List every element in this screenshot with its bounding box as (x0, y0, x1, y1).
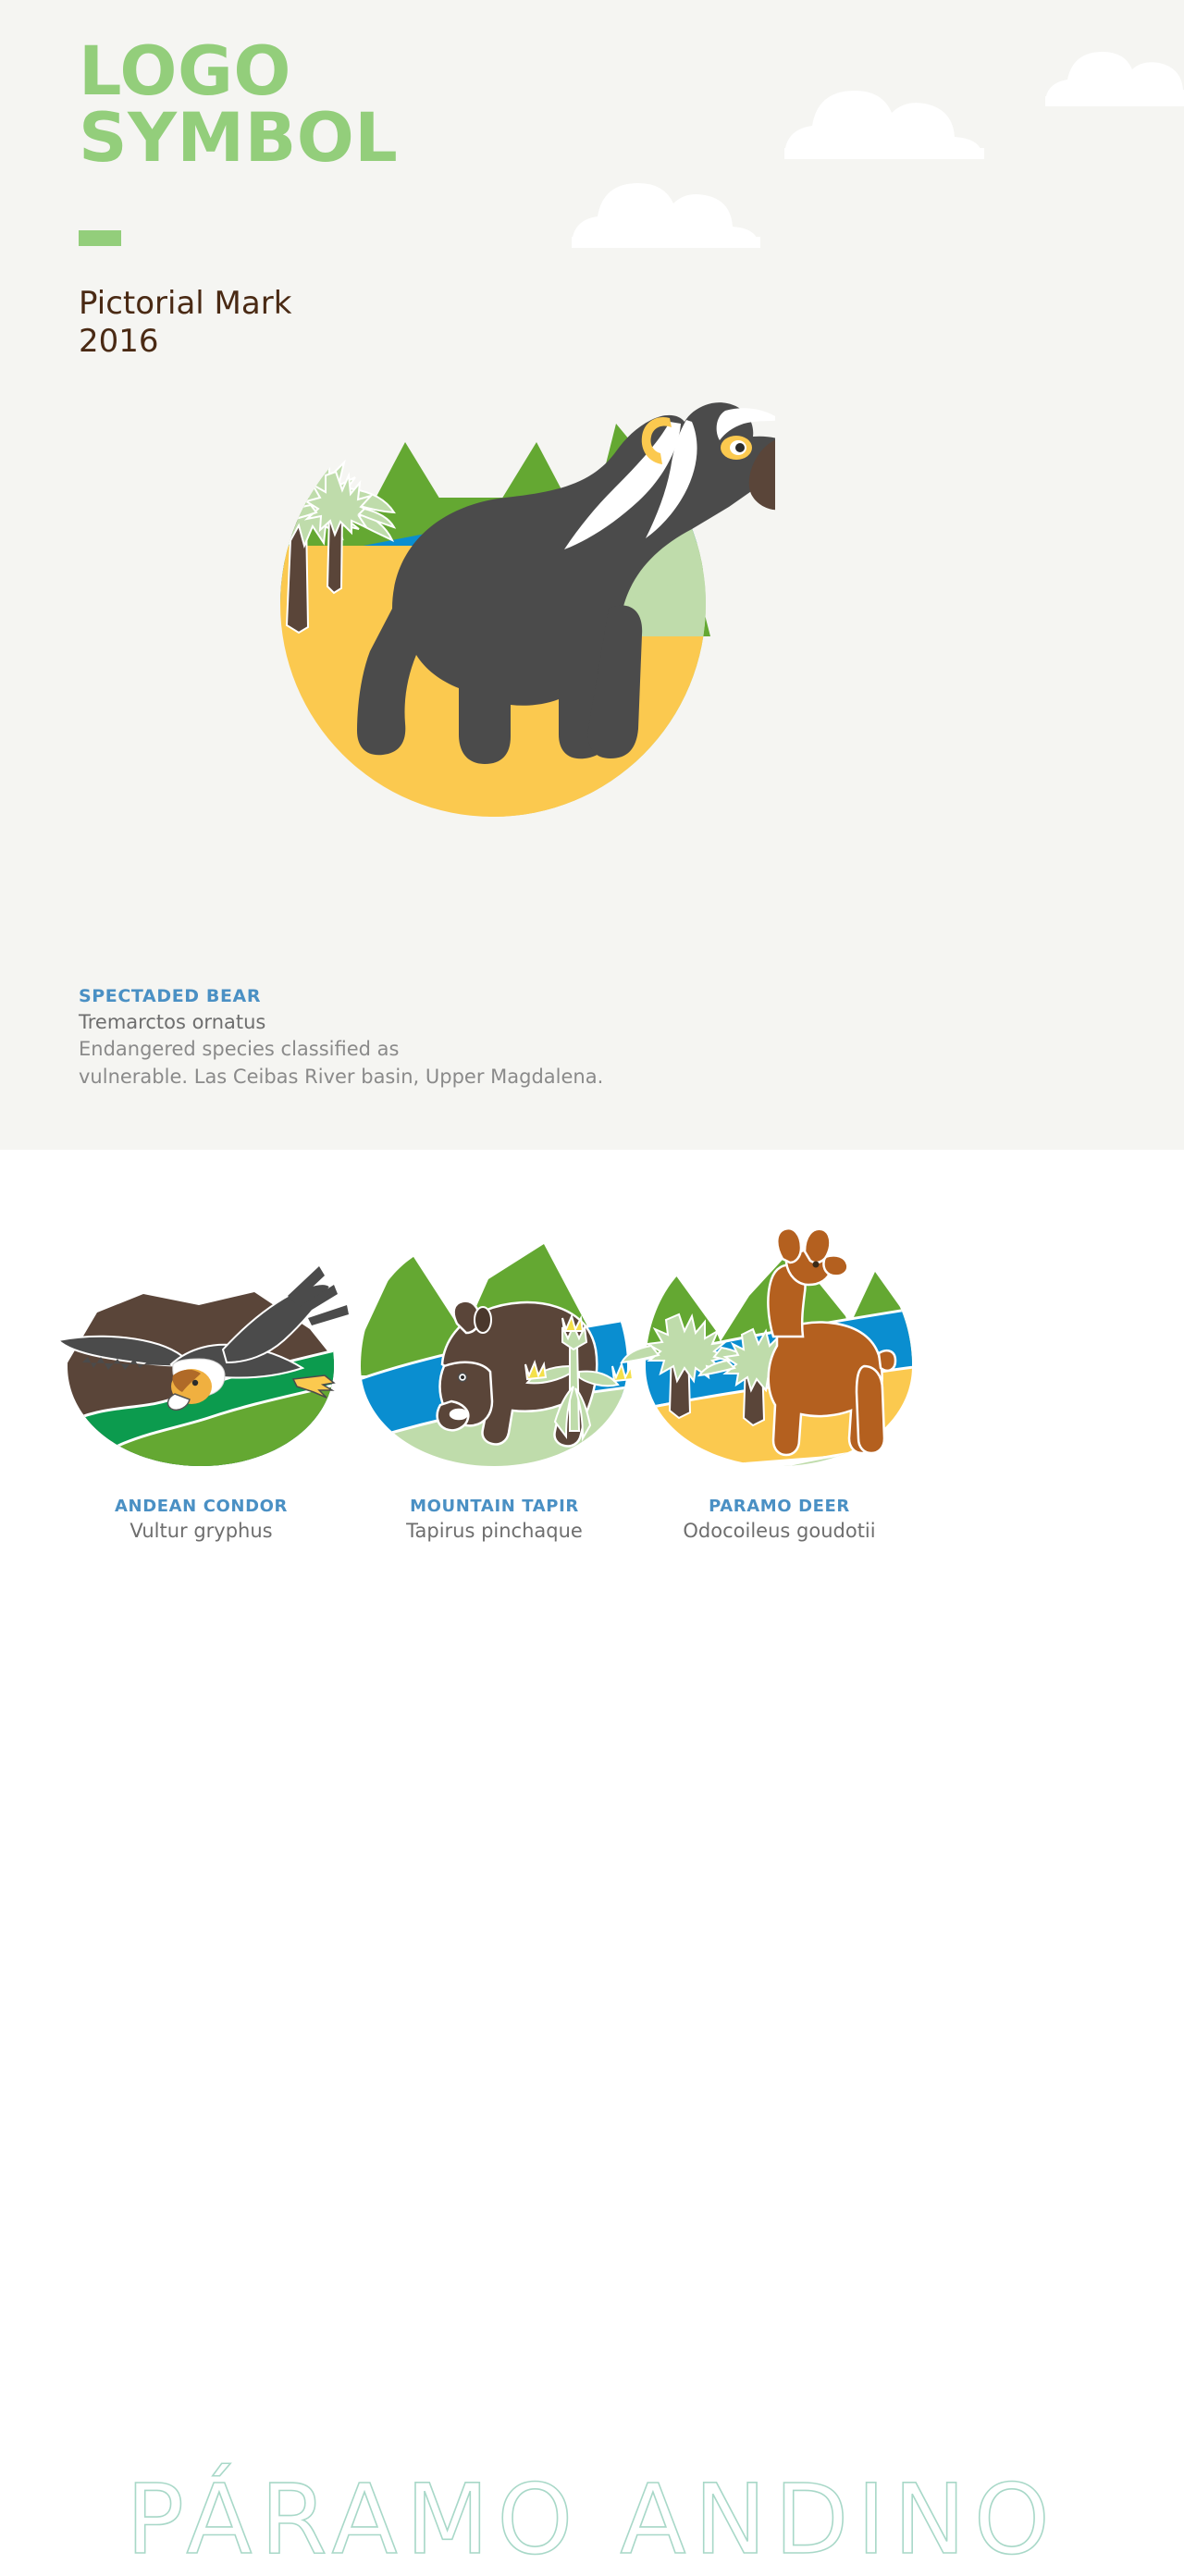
mountain-tapir-illustration (335, 1227, 654, 1473)
tapir-pupil (461, 1375, 464, 1379)
cloud-icon-small (1045, 52, 1184, 106)
page-title-line-1: LOGO (79, 39, 652, 105)
cloud-icon-large (784, 91, 982, 157)
bear-pupil (735, 443, 745, 452)
deer-hind-leg (857, 1366, 884, 1453)
hero-scientific-name: Tremarctos ornatus (79, 1009, 782, 1037)
deer-tail (879, 1350, 895, 1371)
subtitle-line-1: Pictorial Mark (79, 285, 652, 323)
bottom-section: ANDEAN CONDOR Vultur gryphus (0, 1150, 1184, 1829)
hero-caption: SPECTADED BEAR Tremarctos ornatus Endang… (79, 985, 782, 1091)
condor-caption: ANDEAN CONDOR Vultur gryphus (42, 1496, 361, 1546)
spectacled-bear-illustration (211, 331, 775, 817)
tapir-ear-inner (475, 1307, 491, 1333)
deer-ear-right (805, 1229, 830, 1263)
deer-muzzle (823, 1255, 847, 1276)
deer-common-name: PARAMO DEER (620, 1496, 939, 1518)
top-section: LOGO SYMBOL Pictorial Mark 2016 (0, 0, 1184, 1150)
deer-caption: PARAMO DEER Odocoileus goudotii (620, 1496, 939, 1546)
paramo-deer-illustration (620, 1227, 939, 1473)
condor-common-name: ANDEAN CONDOR (42, 1496, 361, 1518)
species-card-deer: PARAMO DEER Odocoileus goudotii (620, 1227, 939, 1546)
deer-eye (813, 1262, 820, 1268)
hero-description: Endangered species classified as vulnera… (79, 1036, 782, 1091)
condor-eye (192, 1380, 198, 1386)
footer-wordmark: PÁRAMO ANDINO (0, 2463, 1184, 2576)
species-card-tapir: MOUNTAIN TAPIR Tapirus pinchaque (335, 1227, 654, 1546)
deer-scientific-name: Odocoileus goudotii (620, 1518, 939, 1546)
tapir-common-name: MOUNTAIN TAPIR (335, 1496, 654, 1518)
page-title: LOGO SYMBOL (79, 39, 652, 173)
andean-condor-illustration (42, 1227, 361, 1473)
tapir-scientific-name: Tapirus pinchaque (335, 1518, 654, 1546)
species-card-condor: ANDEAN CONDOR Vultur gryphus (42, 1227, 361, 1546)
tapir-caption: MOUNTAIN TAPIR Tapirus pinchaque (335, 1496, 654, 1546)
title-divider (79, 230, 121, 246)
tapir-snout-highlight (450, 1410, 467, 1419)
condor-scientific-name: Vultur gryphus (42, 1518, 361, 1546)
hero-common-name: SPECTADED BEAR (79, 985, 782, 1009)
plant-stem (570, 1344, 579, 1431)
deer-ear-left (777, 1228, 801, 1263)
page-title-line-2: SYMBOL (79, 105, 652, 172)
title-block: LOGO SYMBOL Pictorial Mark 2016 (79, 39, 652, 361)
